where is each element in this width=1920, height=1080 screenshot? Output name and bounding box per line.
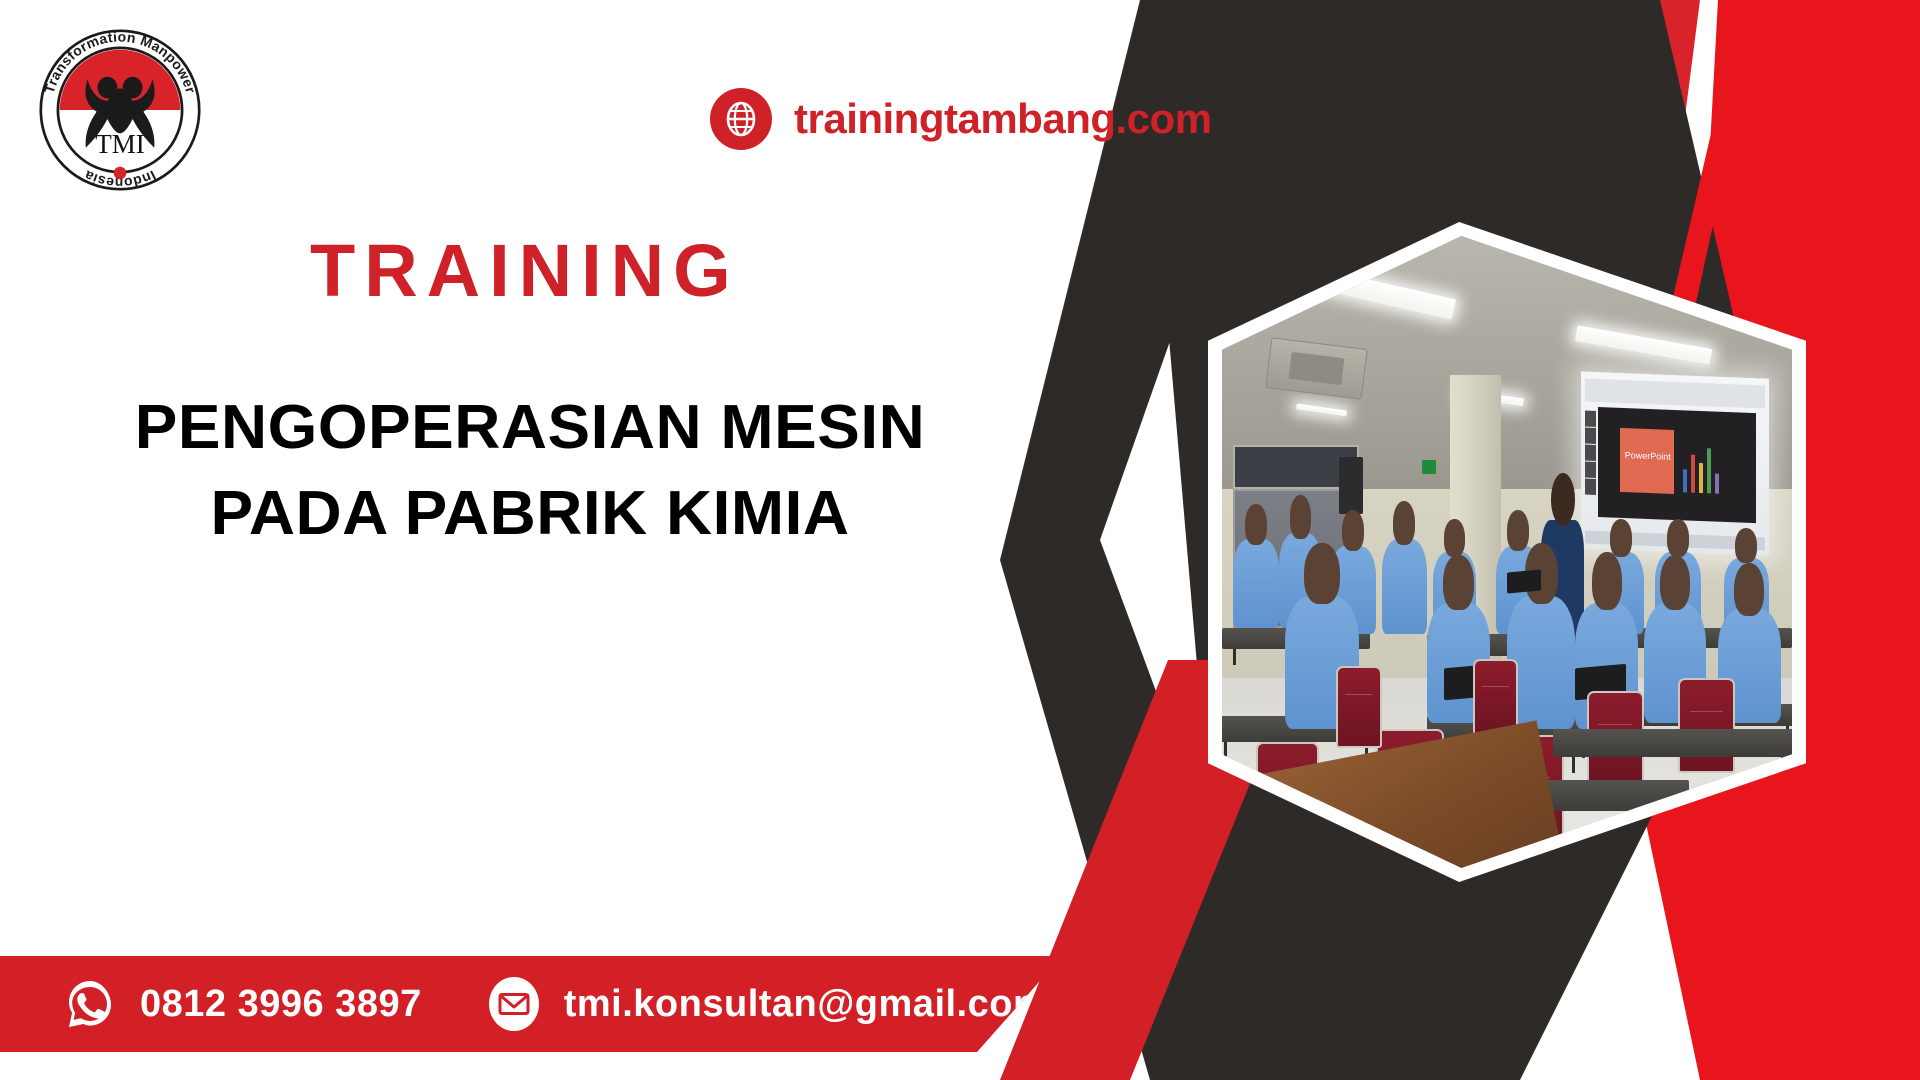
table xyxy=(1553,729,1792,757)
slide-label: PowerPoint xyxy=(1625,450,1671,462)
page-title-line-1: PENGOPERASIAN MESIN xyxy=(0,385,1076,471)
page-title-line-2: PADA PABRIK KIMIA xyxy=(0,471,1076,557)
slide-app-toolbar xyxy=(1585,379,1766,409)
attendee xyxy=(1382,539,1428,634)
slide-thumbnails xyxy=(1585,410,1596,513)
attendee xyxy=(1233,539,1279,627)
slide-bars xyxy=(1680,435,1746,495)
classroom-scene: PowerPoint xyxy=(1222,236,1792,868)
page-kicker: TRAINING xyxy=(310,228,740,313)
chair xyxy=(1473,659,1519,735)
tmi-logo-svg: TMI Transformation Manpower Indonesia xyxy=(30,20,210,200)
tmi-logo: TMI Transformation Manpower Indonesia xyxy=(30,20,210,200)
training-photo: PowerPoint xyxy=(1222,236,1792,868)
page-title: PENGOPERASIAN MESIN PADA PABRIK KIMIA xyxy=(0,385,1060,556)
speaker-box xyxy=(1339,457,1363,514)
email-address[interactable]: tmi.konsultan@gmail.com xyxy=(564,983,1048,1026)
globe-icon xyxy=(710,88,772,150)
slide-stage: PowerPoint xyxy=(1598,407,1756,523)
training-poster: TMI Transformation Manpower Indonesia tr… xyxy=(0,0,1920,1080)
website-url[interactable]: trainingtambang.com xyxy=(794,95,1212,143)
whatsapp-icon xyxy=(62,976,118,1032)
contact-bar: 0812 3996 3897 tmi.konsultan@gmail.com xyxy=(0,956,1062,1052)
photo-hexagon-frame: PowerPoint xyxy=(1208,222,1806,882)
chair xyxy=(1336,666,1382,748)
envelope-icon xyxy=(486,976,542,1032)
exit-sign xyxy=(1422,460,1437,474)
phone-number[interactable]: 0812 3996 3897 xyxy=(140,983,422,1026)
contact-email[interactable]: tmi.konsultan@gmail.com xyxy=(486,976,1048,1032)
laptop xyxy=(1507,569,1541,593)
website-row[interactable]: trainingtambang.com xyxy=(710,88,1212,150)
contact-phone[interactable]: 0812 3996 3897 xyxy=(62,976,422,1032)
logo-initials: TMI xyxy=(95,129,145,159)
